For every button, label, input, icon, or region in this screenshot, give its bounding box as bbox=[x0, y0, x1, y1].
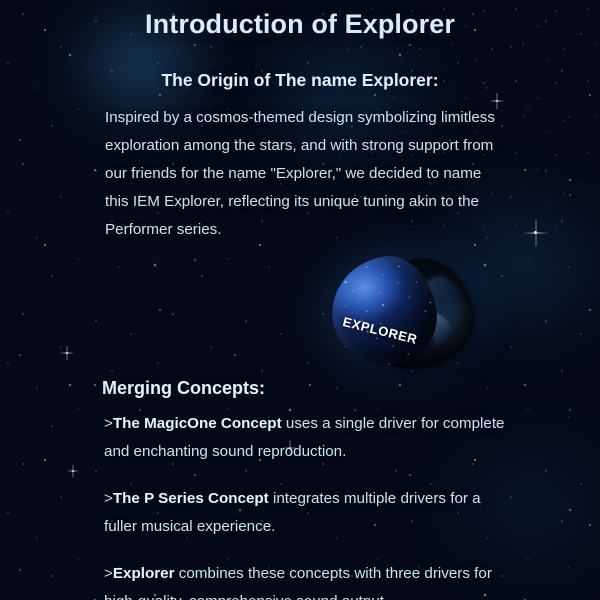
origin-paragraph: Inspired by a cosmos-themed design symbo… bbox=[105, 104, 505, 244]
bullet-marker: > bbox=[104, 565, 113, 582]
bright-star-icon bbox=[66, 352, 68, 354]
bright-star-icon bbox=[72, 470, 74, 472]
bullet-bold-term: Explorer bbox=[113, 565, 175, 582]
merging-concepts-heading: Merging Concepts: bbox=[102, 378, 265, 399]
bullet-marker: > bbox=[104, 415, 113, 432]
merging-concepts-list: >The MagicOne Concept uses a single driv… bbox=[104, 410, 514, 600]
bullet-bold-term: The P Series Concept bbox=[113, 490, 269, 507]
origin-subheading: The Origin of The name Explorer: bbox=[0, 70, 600, 91]
bright-star-icon bbox=[534, 231, 537, 234]
poster-canvas: Introduction of Explorer The Origin of T… bbox=[0, 0, 600, 600]
explorer-iem-product-image: EXPLORER bbox=[332, 255, 477, 373]
bright-star-icon bbox=[496, 100, 498, 102]
bullet-marker: > bbox=[104, 490, 113, 507]
bullet-bold-term: The MagicOne Concept bbox=[113, 415, 282, 432]
iem-faceplate bbox=[325, 250, 443, 371]
list-item: >Explorer combines these concepts with t… bbox=[104, 560, 514, 600]
page-title: Introduction of Explorer bbox=[0, 9, 600, 40]
list-item: >The MagicOne Concept uses a single driv… bbox=[104, 410, 514, 466]
list-item: >The P Series Concept integrates multipl… bbox=[104, 485, 514, 541]
iem-glitter-coarse bbox=[325, 250, 443, 371]
